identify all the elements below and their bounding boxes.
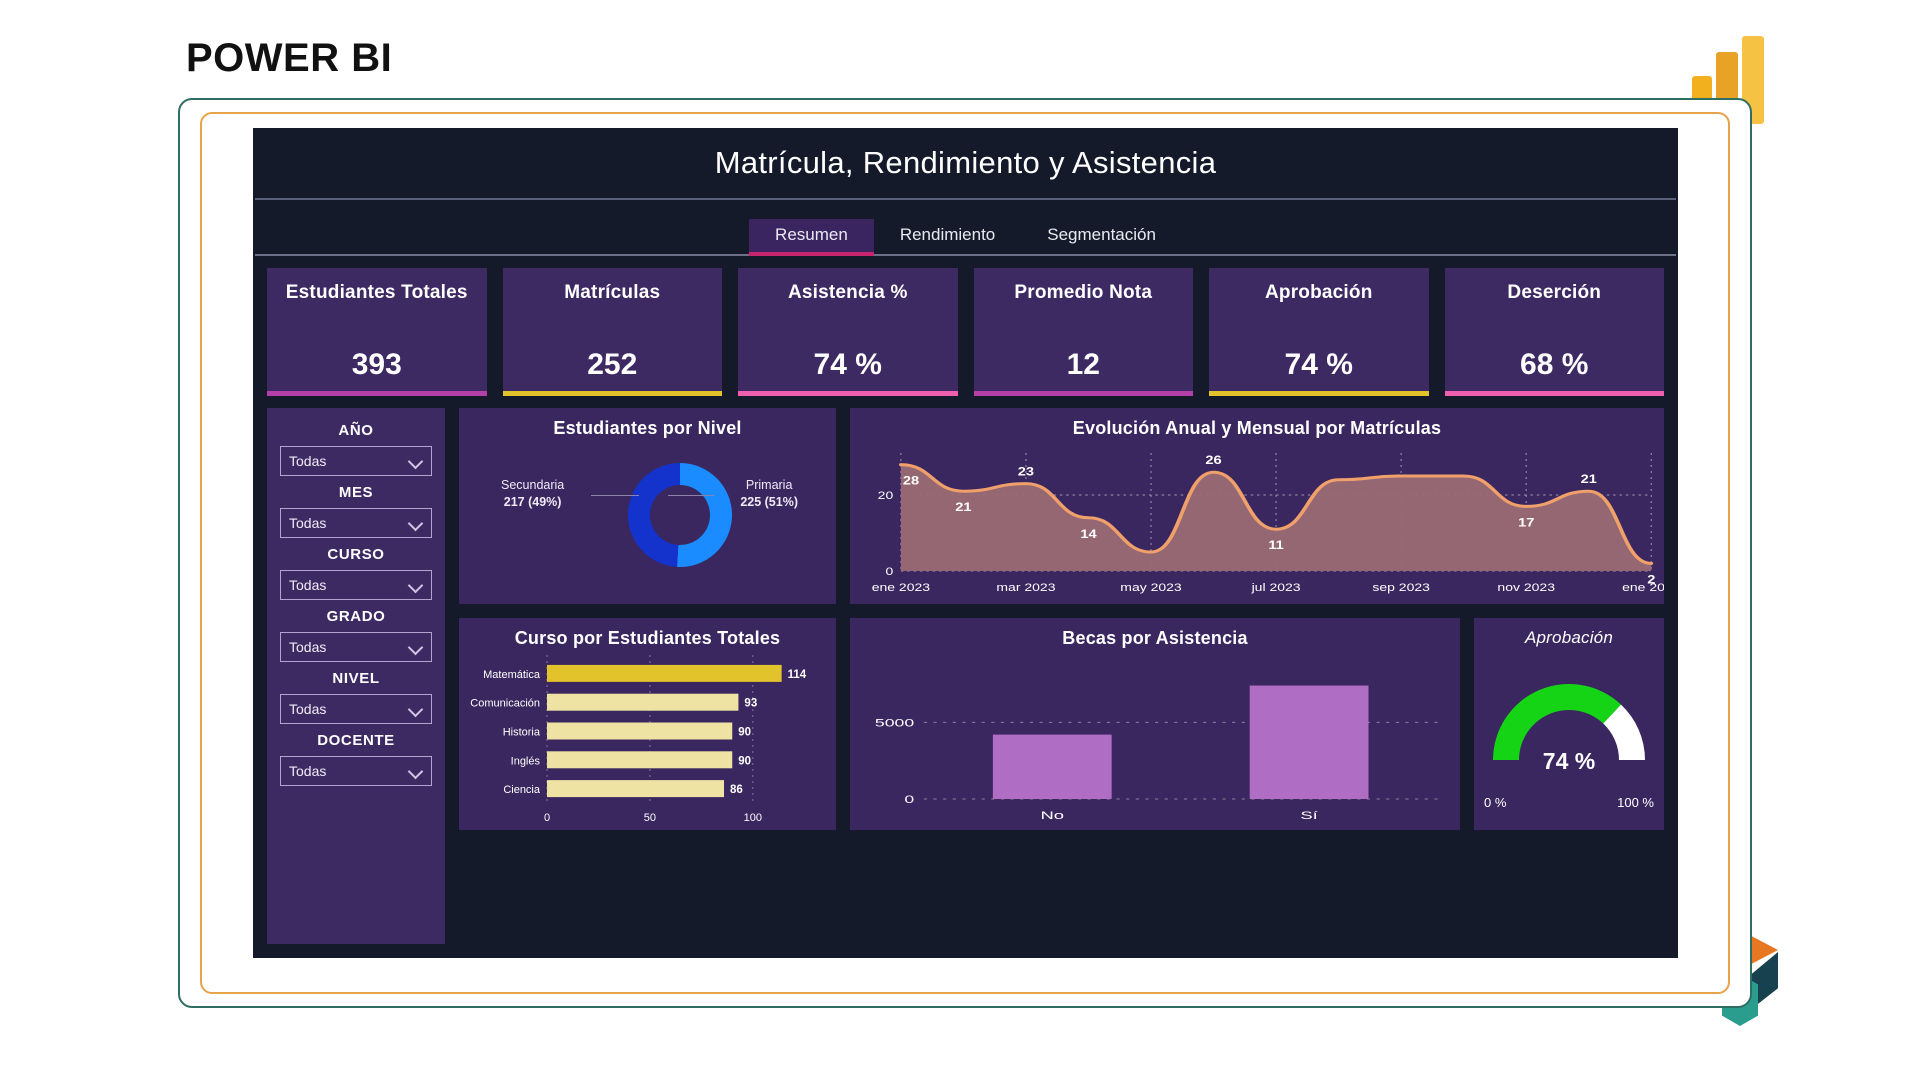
visuals-row-top: Estudiantes por Nivel Secundaria 217 (49… [459,408,1664,604]
visuals-row-bottom: Curso por Estudiantes Totales 050100Mate… [459,618,1664,830]
svg-text:86: 86 [730,784,743,796]
donut-label-primaria: Primaria 225 (51%) [740,477,798,511]
chevron-down-icon [409,764,423,778]
filter-label-ano: AÑO [280,422,432,439]
filter-label-grado: GRADO [280,608,432,625]
tab-bar: Resumen Rendimiento Segmentación [255,200,1676,256]
visual-estudiantes-por-nivel[interactable]: Estudiantes por Nivel Secundaria 217 (49… [459,408,836,604]
svg-text:5000: 5000 [875,717,914,729]
slicer-nivel[interactable]: Todas [280,694,432,724]
svg-text:Matemática: Matemática [483,669,541,681]
chevron-down-icon [409,516,423,530]
svg-text:23: 23 [1018,465,1034,478]
chevron-down-icon [409,454,423,468]
donut-chart: Secundaria 217 (49%) Primaria 225 (51%) [459,439,836,589]
svg-text:ene 2023: ene 2023 [872,581,930,593]
svg-text:0: 0 [885,565,893,577]
slicer-value: Todas [289,701,326,717]
gauge-chart: 74 % 0 % 100 % [1474,660,1664,830]
filter-label-mes: MES [280,484,432,501]
chevron-down-icon [409,578,423,592]
kpi-card-desercion[interactable]: Deserción 68 % [1445,268,1665,396]
kpi-label: Matrículas [564,282,660,304]
svg-text:50: 50 [644,812,656,824]
chevron-down-icon [409,640,423,654]
slicer-ano[interactable]: Todas [280,446,432,476]
kpi-value: 74 % [814,348,882,382]
svg-text:21: 21 [1581,473,1597,486]
kpi-label: Promedio Nota [1014,282,1152,304]
filters-sidebar: AÑO Todas MES Todas CURSO Todas GRADO [267,408,445,944]
visual-title: Becas por Asistencia [850,618,1460,649]
svg-text:0: 0 [904,794,914,806]
filter-label-nivel: NIVEL [280,670,432,687]
report-header: Matrícula, Rendimiento y Asistencia [255,128,1676,200]
tab-segmentacion[interactable]: Segmentación [1021,219,1182,254]
svg-text:28: 28 [903,474,919,487]
kpi-accent-bar [1209,391,1429,396]
area-chart-svg: 02028212314261117212ene 2023mar 2023may … [850,439,1664,599]
kpi-card-estudiantes-totales[interactable]: Estudiantes Totales 393 [267,268,487,396]
svg-text:Comunicación: Comunicación [470,698,540,710]
visual-title: Aprobación [1474,618,1664,648]
slicer-value: Todas [289,453,326,469]
svg-text:sep 2023: sep 2023 [1372,581,1430,593]
slicer-value: Todas [289,577,326,593]
donut-leader-right [668,495,714,496]
svg-text:nov 2023: nov 2023 [1497,581,1555,593]
visual-aprobacion-gauge[interactable]: Aprobación 74 % 0 % 100 % [1474,618,1664,830]
svg-text:ene 2024: ene 2024 [1622,581,1664,593]
kpi-row: Estudiantes Totales 393 Matrículas 252 A… [253,256,1678,402]
gauge-max-label: 100 % [1617,795,1654,810]
kpi-accent-bar [738,391,958,396]
kpi-card-matriculas[interactable]: Matrículas 252 [503,268,723,396]
kpi-card-asistencia[interactable]: Asistencia % 74 % [738,268,958,396]
svg-text:93: 93 [744,698,757,710]
svg-text:Inglés: Inglés [511,755,541,767]
svg-text:90: 90 [738,755,751,767]
visual-title: Estudiantes por Nivel [459,408,836,439]
svg-text:Sí: Sí [1300,809,1318,822]
kpi-card-aprobacion[interactable]: Aprobación 74 % [1209,268,1429,396]
slicer-docente[interactable]: Todas [280,756,432,786]
visual-title: Curso por Estudiantes Totales [459,618,836,649]
svg-text:jul 2023: jul 2023 [1250,581,1300,593]
svg-text:21: 21 [955,501,971,514]
report-body: AÑO Todas MES Todas CURSO Todas GRADO [253,402,1678,958]
svg-text:114: 114 [788,669,807,681]
svg-text:may 2023: may 2023 [1120,581,1181,593]
kpi-value: 74 % [1285,348,1353,382]
kpi-value: 393 [352,348,402,382]
visual-curso-por-estudiantes[interactable]: Curso por Estudiantes Totales 050100Mate… [459,618,836,830]
slicer-mes[interactable]: Todas [280,508,432,538]
svg-text:mar 2023: mar 2023 [996,581,1055,593]
slicer-grado[interactable]: Todas [280,632,432,662]
slide-canvas: POWER BI Matrícula, Rendimiento y Asiste… [0,0,1920,1080]
svg-text:100: 100 [744,812,762,824]
svg-text:Ciencia: Ciencia [503,784,541,796]
svg-text:20: 20 [878,489,894,501]
svg-text:Historia: Historia [503,727,541,739]
visual-title: Evolución Anual y Mensual por Matrículas [850,408,1664,439]
kpi-value: 12 [1067,348,1100,382]
slicer-curso[interactable]: Todas [280,570,432,600]
kpi-value: 252 [587,348,637,382]
tab-resumen[interactable]: Resumen [749,219,874,254]
report-title: Matrícula, Rendimiento y Asistencia [715,145,1217,181]
svg-text:11: 11 [1268,539,1283,552]
donut-svg [616,451,744,579]
visual-becas-por-asistencia[interactable]: Becas por Asistencia 05000NoSí [850,618,1460,830]
kpi-label: Estudiantes Totales [286,282,468,304]
svg-text:No: No [1040,809,1064,822]
kpi-label: Deserción [1507,282,1601,304]
slicer-value: Todas [289,639,326,655]
tab-rendimiento[interactable]: Rendimiento [874,219,1021,254]
chevron-down-icon [409,702,423,716]
gauge-value: 74 % [1474,748,1664,775]
visuals-grid: Estudiantes por Nivel Secundaria 217 (49… [459,408,1664,944]
svg-text:14: 14 [1080,527,1097,540]
svg-text:26: 26 [1205,454,1221,467]
svg-text:90: 90 [738,727,751,739]
kpi-accent-bar [503,391,723,396]
svg-text:17: 17 [1518,516,1534,529]
kpi-value: 68 % [1520,348,1588,382]
donut-leader-left [591,495,639,496]
filter-label-docente: DOCENTE [280,732,432,749]
gauge-min-label: 0 % [1484,795,1506,810]
kpi-label: Aprobación [1265,282,1373,304]
power-bi-report-canvas: Matrícula, Rendimiento y Asistencia Resu… [253,128,1678,958]
kpi-accent-bar [267,391,487,396]
column-chart-svg: 05000NoSí [850,649,1460,827]
svg-text:0: 0 [544,812,550,824]
filter-label-curso: CURSO [280,546,432,563]
kpi-label: Asistencia % [788,282,908,304]
kpi-accent-bar [974,391,1194,396]
visual-evolucion-anual-mensual[interactable]: Evolución Anual y Mensual por Matrículas… [850,408,1664,604]
horizontal-bar-chart-svg: 050100Matemática114Comunicación93Histori… [459,649,836,829]
page-title: POWER BI [186,36,392,81]
kpi-accent-bar [1445,391,1665,396]
slicer-value: Todas [289,515,326,531]
donut-label-secundaria: Secundaria 217 (49%) [501,477,564,511]
kpi-card-promedio-nota[interactable]: Promedio Nota 12 [974,268,1194,396]
slicer-value: Todas [289,763,326,779]
